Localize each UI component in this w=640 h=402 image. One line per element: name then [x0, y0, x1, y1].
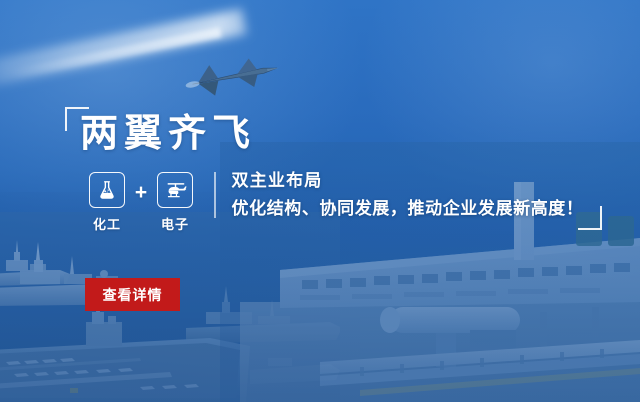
view-details-button[interactable]: 查看详情	[85, 278, 180, 311]
business-unit-label-chemical: 化工	[93, 214, 121, 233]
vertical-divider	[214, 172, 216, 218]
tagline-primary: 双主业布局	[232, 172, 584, 191]
business-units-row: 化工 +	[86, 172, 584, 233]
banner-content: 两翼齐飞 化工 +	[0, 0, 640, 402]
hero-banner: 两翼齐飞 化工 +	[0, 0, 640, 402]
helicopter-icon-box	[157, 172, 193, 208]
tagline-block: 双主业布局 优化结构、协同发展，推动企业发展新高度！	[232, 172, 584, 218]
business-unit-electronics[interactable]: 电子	[154, 172, 196, 233]
business-unit-label-electronics: 电子	[161, 214, 189, 233]
helicopter-icon	[164, 179, 187, 202]
business-unit-chemical[interactable]: 化工	[86, 172, 128, 233]
plus-separator: +	[128, 175, 154, 211]
business-unit-icons: 化工 +	[86, 172, 196, 233]
tagline-secondary: 优化结构、协同发展，推动企业发展新高度！	[232, 200, 584, 219]
page-title: 两翼齐飞	[80, 114, 256, 155]
flask-icon	[96, 179, 118, 201]
flask-icon-box	[89, 172, 125, 208]
